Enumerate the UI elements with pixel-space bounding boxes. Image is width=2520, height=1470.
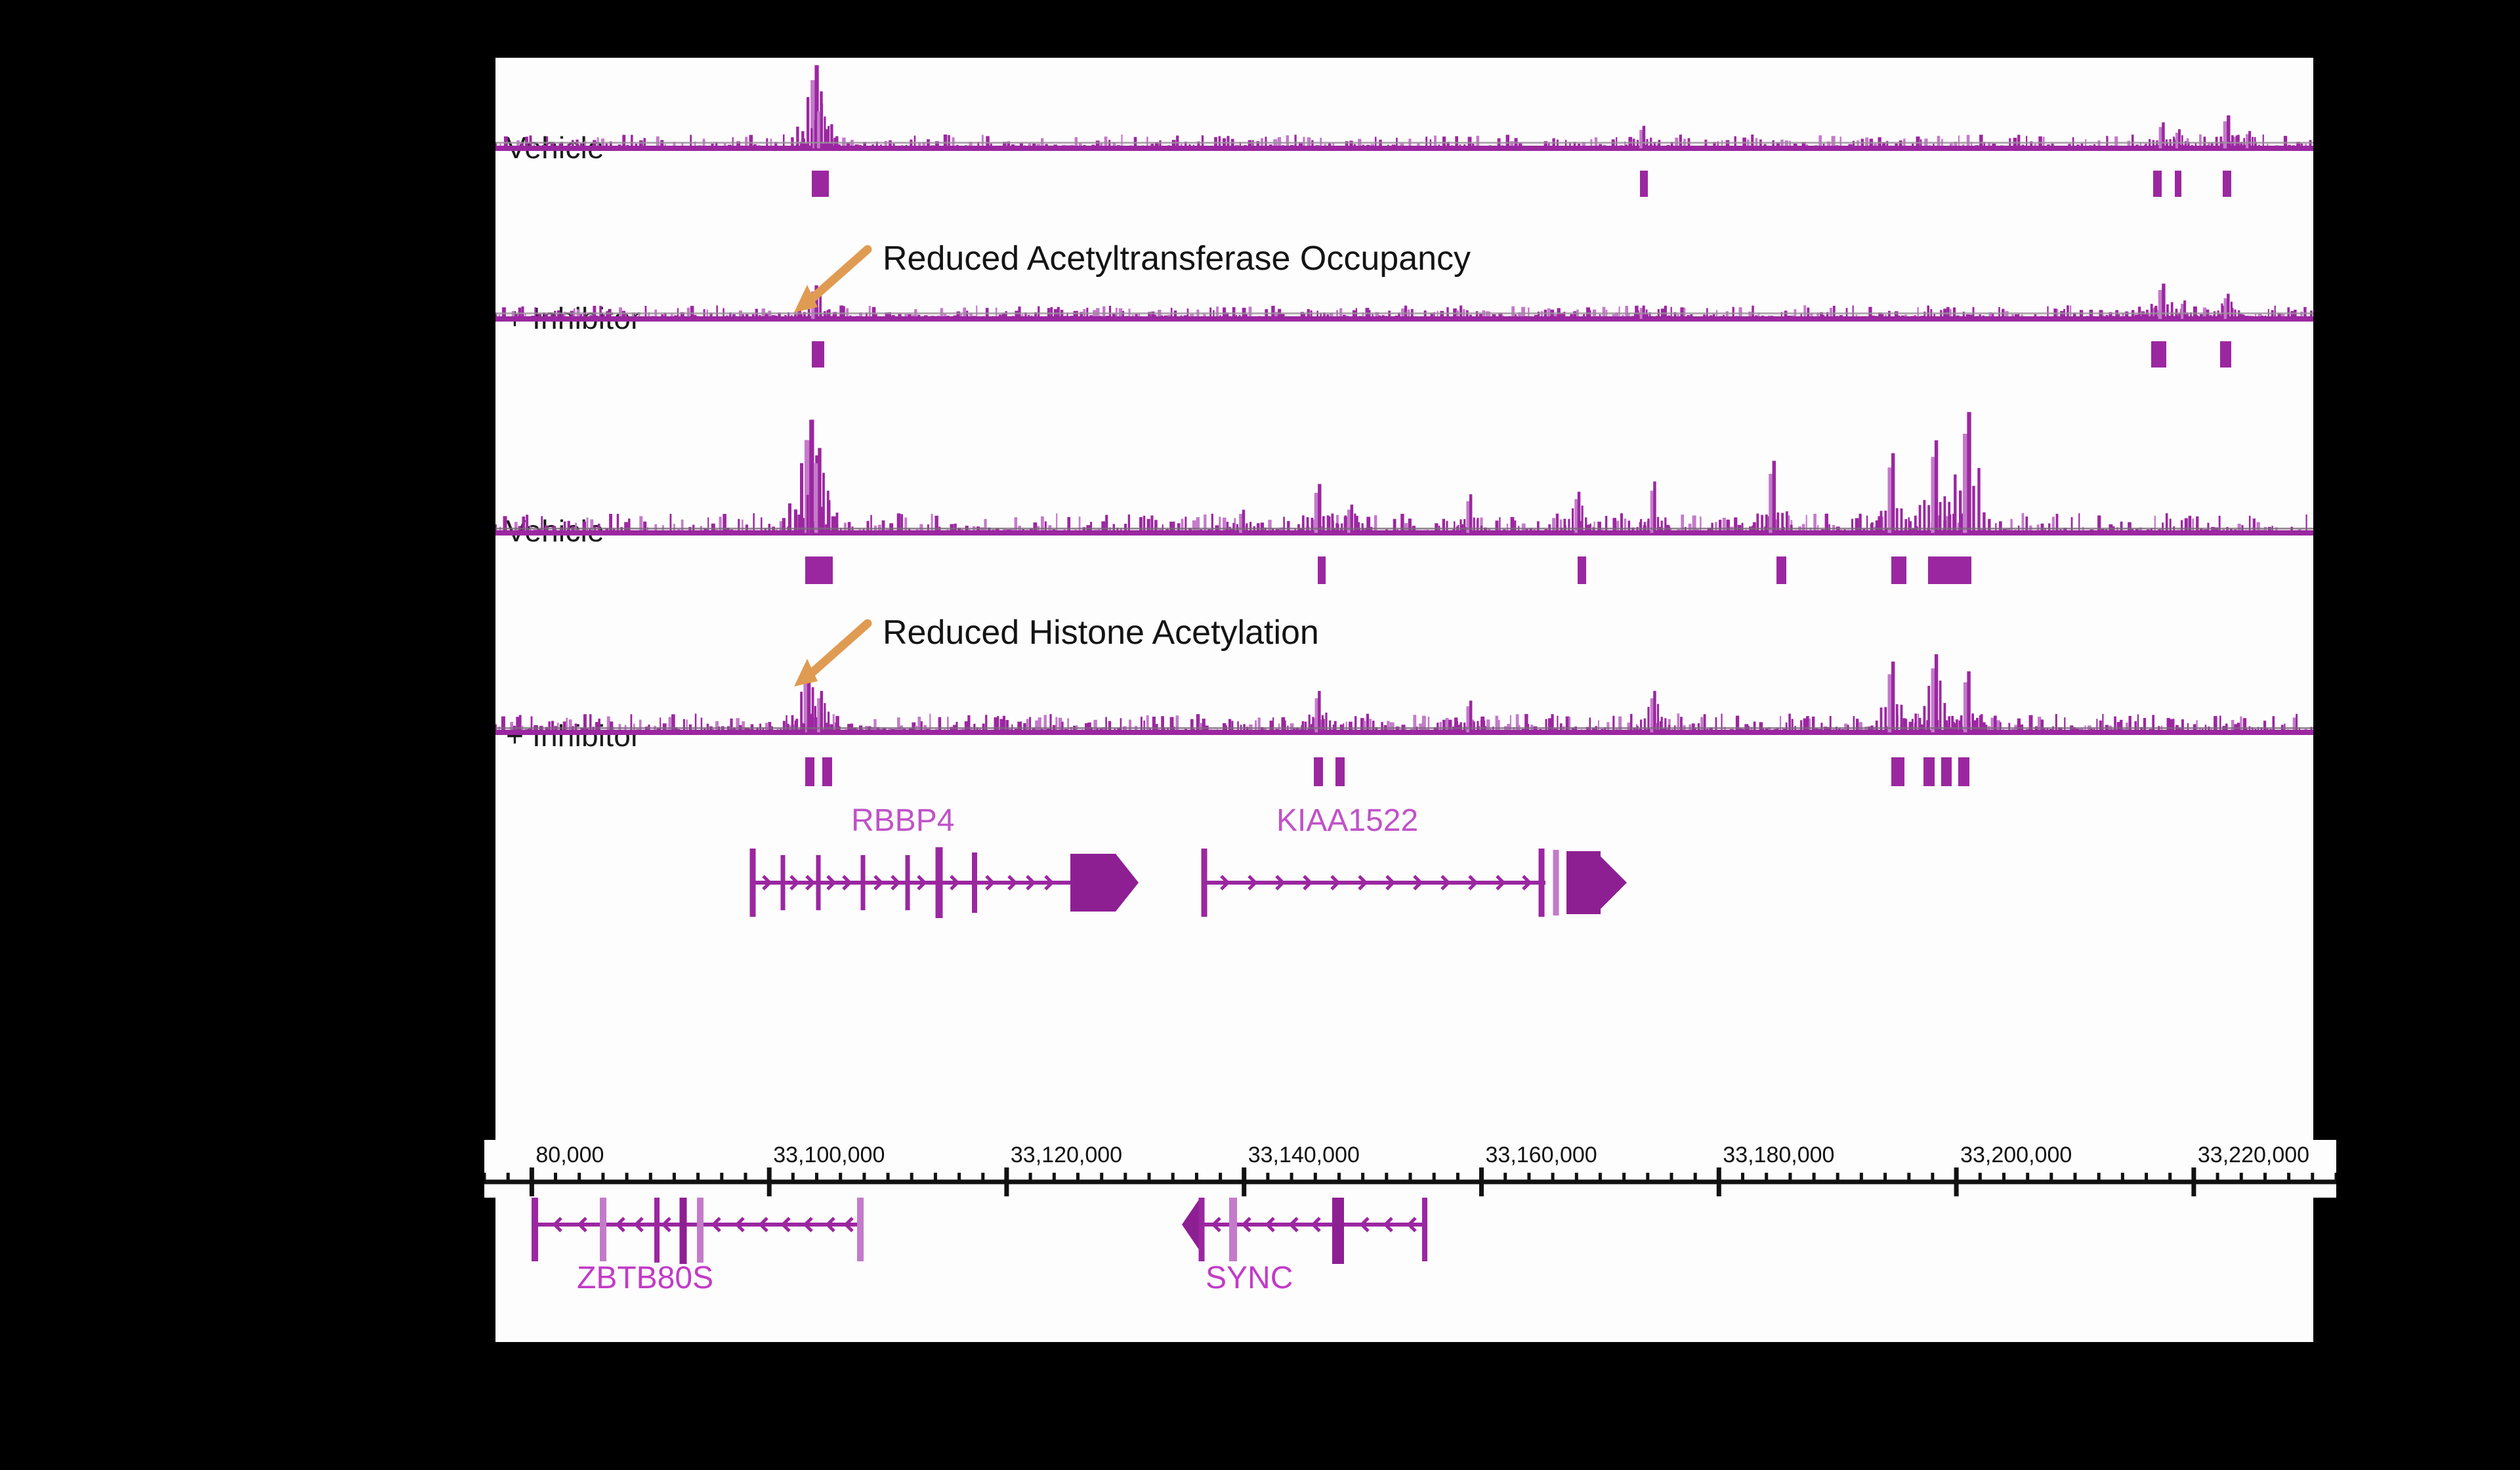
peak-calls-track-3 — [495, 556, 2313, 584]
arrow-icon — [787, 618, 873, 690]
peak-call-block — [2220, 341, 2231, 367]
figure-root: Vehicle + Inhibitor — [0, 0, 2520, 1470]
axis-rule-track-4 — [495, 727, 2313, 729]
ruler-label: 33,140,000 — [1248, 1143, 1360, 1168]
gene-track-upper: RBBP4 KIAA1522 — [495, 803, 2313, 924]
peak-call-block — [1958, 757, 1969, 786]
ruler-label: 33,180,000 — [1723, 1143, 1834, 1168]
gene-label-kiaa1522[interactable]: KIAA1522 — [1276, 803, 1418, 839]
peak-call-block — [2153, 171, 2162, 197]
peak-call-block — [805, 556, 833, 584]
signal-track-1 — [495, 58, 2313, 166]
axis-rule-track-3 — [495, 528, 2313, 530]
peak-call-block — [1318, 556, 1326, 584]
gene-label-sync[interactable]: SYNC — [1206, 1260, 1293, 1296]
peak-call-block — [2175, 171, 2181, 197]
peak-call-block — [822, 757, 832, 786]
annotation-text-reduced-histone-acetylation: Reduced Histone Acetylation — [883, 613, 1319, 652]
peak-calls-track-4 — [495, 757, 2313, 786]
gene-track-lower: ZBTB80S SYNC — [495, 1173, 2313, 1337]
peak-call-block — [1928, 556, 1971, 584]
signal-track-4 — [495, 601, 2313, 752]
gene-label-zbtb80s[interactable]: ZBTB80S — [577, 1260, 713, 1296]
peak-call-block — [1776, 556, 1786, 584]
peak-call-block — [1923, 757, 1935, 786]
annotation-text-reduced-acetyltransferase-occupancy: Reduced Acetyltransferase Occupancy — [883, 239, 1471, 278]
gene-label-rbbp4[interactable]: RBBP4 — [851, 803, 954, 839]
genomic-coordinate-ruler[interactable]: 80,00033,100,00033,120,00033,140,00033,1… — [484, 1140, 2336, 1198]
gene-models-upper[interactable] — [495, 843, 2313, 922]
annotation-arrow-2 — [787, 618, 873, 694]
ruler-label: 80,000 — [535, 1143, 604, 1168]
peak-calls-track-1 — [495, 171, 2313, 197]
gene-model-kiaa1522 — [1204, 849, 1627, 917]
peak-call-block — [1891, 757, 1904, 786]
track-histone-vehicle: Vehicle — [495, 399, 2313, 596]
peak-call-block — [812, 171, 829, 197]
axis-rule-track-2 — [495, 312, 2313, 314]
annotation-arrow-1 — [787, 244, 873, 320]
signal-svg-track-1 — [495, 58, 2313, 166]
gene-model-rbbp4 — [753, 847, 1139, 918]
ruler-label: 33,220,000 — [2198, 1143, 2309, 1168]
peak-call-block — [1941, 757, 1952, 786]
peak-call-block — [1314, 757, 1324, 786]
peak-call-block — [1891, 556, 1906, 584]
track-acetyltransferase-inhibitor: + Inhibitor Reduced Acetyltransferase Oc… — [495, 230, 2313, 400]
peak-call-block — [812, 341, 825, 367]
track-acetyltransferase-vehicle: Vehicle — [495, 58, 2313, 228]
peak-call-block — [1578, 556, 1586, 584]
peak-call-block — [1335, 757, 1345, 786]
peak-calls-track-2 — [495, 341, 2313, 367]
peak-call-block — [805, 757, 815, 786]
ruler-label: 33,120,000 — [1011, 1143, 1122, 1168]
ruler-label: 33,200,000 — [1960, 1143, 2072, 1168]
peak-call-block — [2151, 341, 2166, 367]
track-histone-inhibitor: + Inhibitor Reduced Histone Acetylation — [495, 601, 2313, 798]
signal-svg-track-4 — [495, 601, 2313, 752]
ruler-label: 33,100,000 — [773, 1143, 885, 1168]
peak-call-block — [1640, 171, 1648, 197]
arrow-icon — [787, 244, 873, 316]
ruler-label: 33,160,000 — [1486, 1143, 1597, 1168]
axis-rule-track-1 — [495, 142, 2313, 144]
peak-call-block — [2223, 171, 2231, 197]
